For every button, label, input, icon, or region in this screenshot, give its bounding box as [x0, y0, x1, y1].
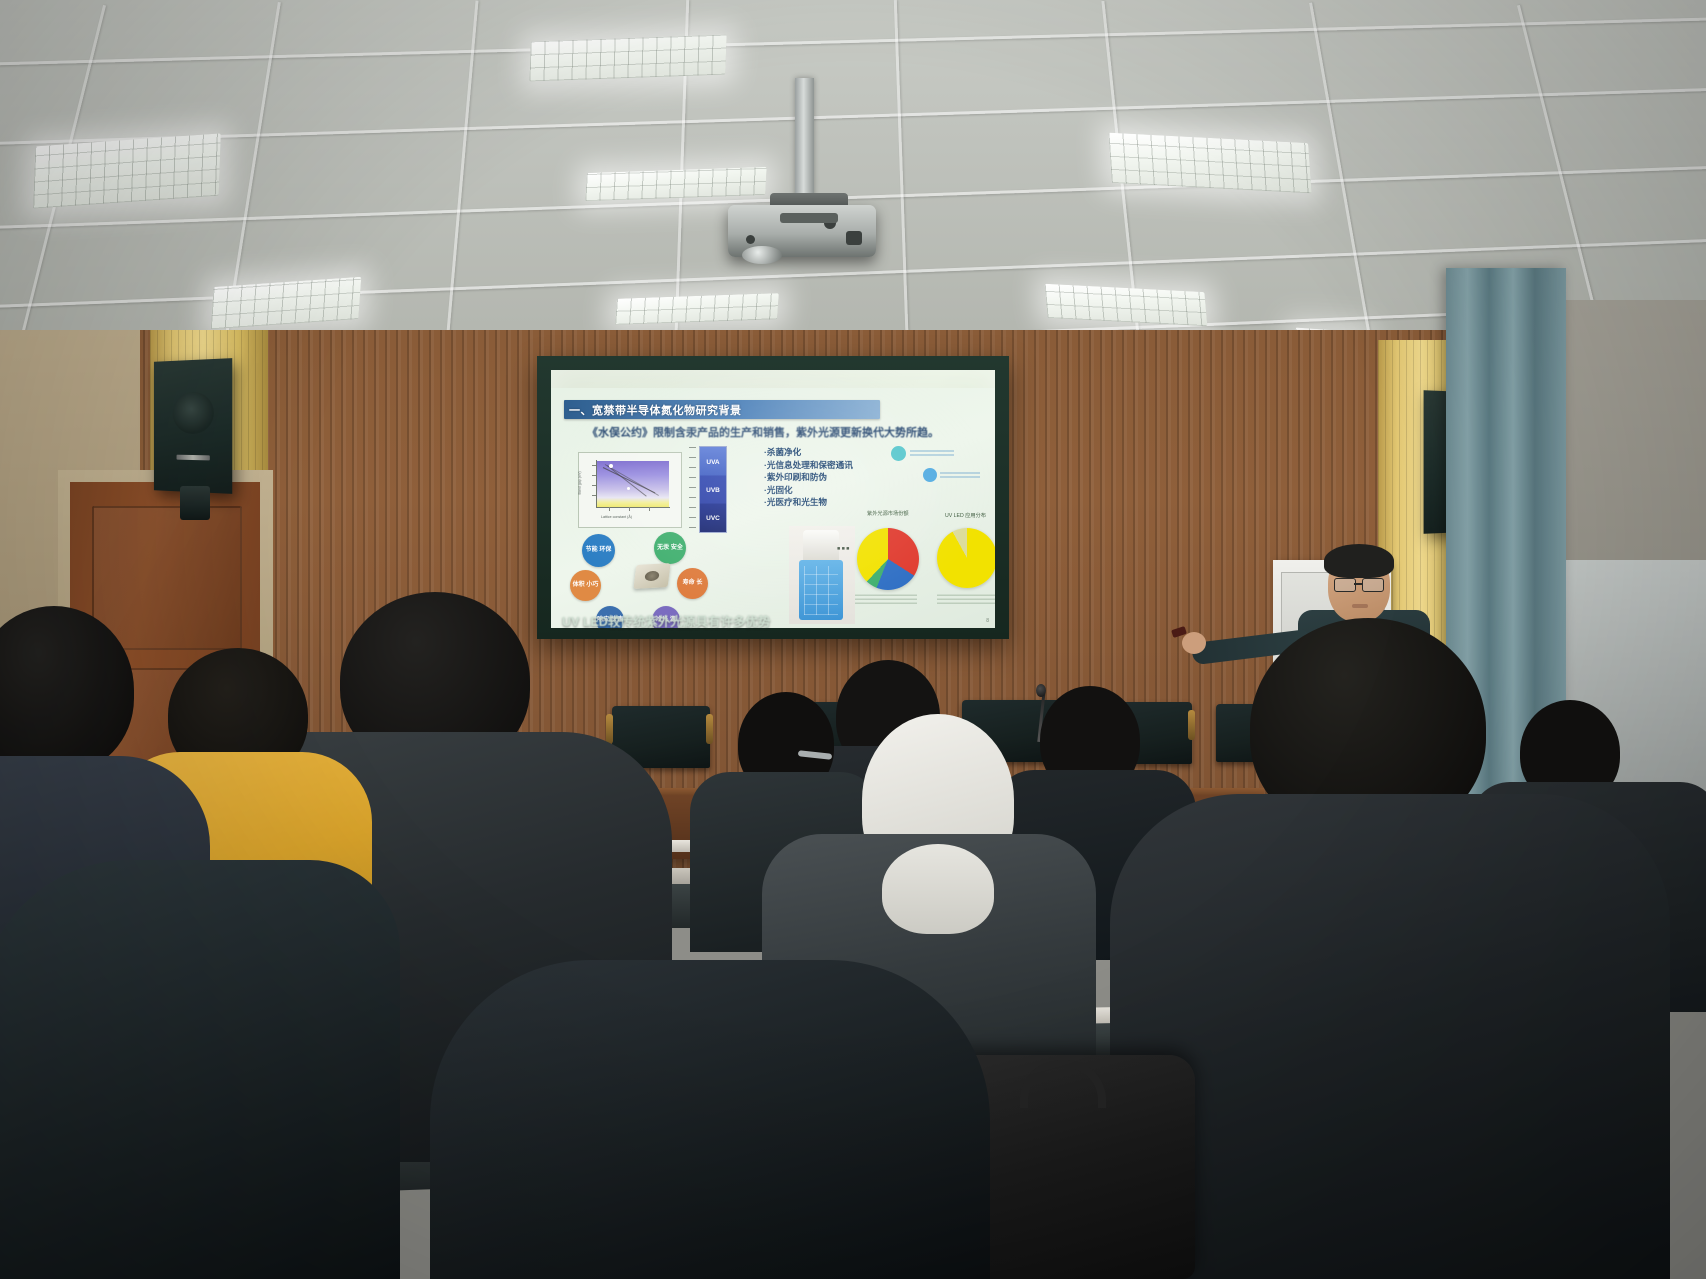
presenter-hair: [1324, 544, 1394, 578]
bandgap-ylabel: Band gap (eV): [578, 471, 582, 494]
feature-icon-lifetime: 寿命 长: [677, 568, 708, 599]
led-chip-photo: [633, 563, 670, 589]
feature-icon-mercuryfree: 无汞 安全: [654, 532, 686, 564]
pie-left-title: 紫外光源市场份额: [867, 510, 909, 517]
bandgap-xlabel: Lattice constant (Å): [601, 515, 632, 519]
attendee-foreground-center: [430, 960, 990, 1279]
info-bubble-text: [910, 449, 954, 456]
ceiling-light-fixture: [1108, 133, 1311, 194]
bullet-item: ·光医疗和光生物: [764, 496, 853, 509]
slide-title-bar: 一、宽禁带半导体氮化物研究背景: [564, 400, 880, 419]
pie-chart-left: [857, 528, 919, 590]
attendee-front-center: [1130, 618, 1650, 1278]
bandgap-plot-area: [597, 461, 669, 507]
projector-lens: [742, 246, 782, 264]
attendee-front-left: [0, 860, 400, 1279]
glasses-bridge: [1354, 583, 1363, 585]
wall-speaker-left: [154, 358, 232, 494]
uv-wavelength-scale: [687, 444, 697, 533]
bandgap-figure: Lattice constant (Å) Band gap (eV): [578, 452, 682, 528]
ceiling-light-fixture: [33, 133, 221, 208]
slide-page-number: 8: [986, 618, 989, 624]
pie-right-title: UV LED 应用分布: [945, 512, 986, 519]
glasses-right-lens: [1362, 578, 1384, 592]
slide-title: 一、宽禁带半导体氮化物研究背景: [569, 402, 742, 418]
bullet-item: ·光信息处理和保密通讯: [764, 459, 853, 472]
projection-screen: 一、宽禁带半导体氮化物研究背景 《水俣公约》限制含汞产品的生产和销售，紫外光源更…: [551, 370, 995, 628]
glasses-left-lens: [1334, 578, 1356, 592]
slide-bullet-list: ·杀菌净化 ·光信息处理和保密通讯 ·紫外印刷和防伪 ·光固化 ·光医疗和光生物: [764, 446, 853, 509]
ceiling-light-fixture: [529, 35, 726, 82]
pie-right-caption: [937, 594, 995, 604]
pie-left-caption: [855, 594, 917, 604]
uv-band-column: UVA UVB UVC: [699, 446, 727, 533]
speaker-bracket-left: [180, 486, 210, 520]
pie-left-legend: ■ ■ ■: [837, 546, 849, 552]
slide-subtitle: 《水俣公约》限制含汞产品的生产和销售，紫外光源更新换代大势所趋。: [587, 424, 939, 440]
attendee-hood-opening: [882, 844, 994, 934]
bullet-item: ·光固化: [764, 484, 853, 497]
bullet-item: ·杀菌净化: [764, 446, 853, 459]
pie-chart-right: [937, 528, 995, 588]
lecture-hall-photo: 一、宽禁带半导体氮化物研究背景 《水俣公约》限制含汞产品的生产和销售，紫外光源更…: [0, 0, 1706, 1279]
projector-ceiling-mount: [795, 78, 814, 206]
uv-band-uvc: UVC: [700, 515, 726, 522]
info-bubble-text: [940, 471, 980, 478]
attendee-head: [0, 606, 134, 774]
feature-icon-energy: 节能 环保: [582, 534, 615, 567]
info-bubble-icon: [923, 468, 937, 482]
uv-band-uva: UVA: [700, 459, 726, 466]
attendee-body: [0, 860, 400, 1279]
bullet-item: ·紫外印刷和防伪: [764, 471, 853, 484]
uv-band-uvb: UVB: [700, 487, 726, 494]
info-bubble-icon: [891, 446, 906, 461]
presenter-mouth: [1352, 604, 1368, 608]
uv-device-photo: [789, 526, 855, 624]
